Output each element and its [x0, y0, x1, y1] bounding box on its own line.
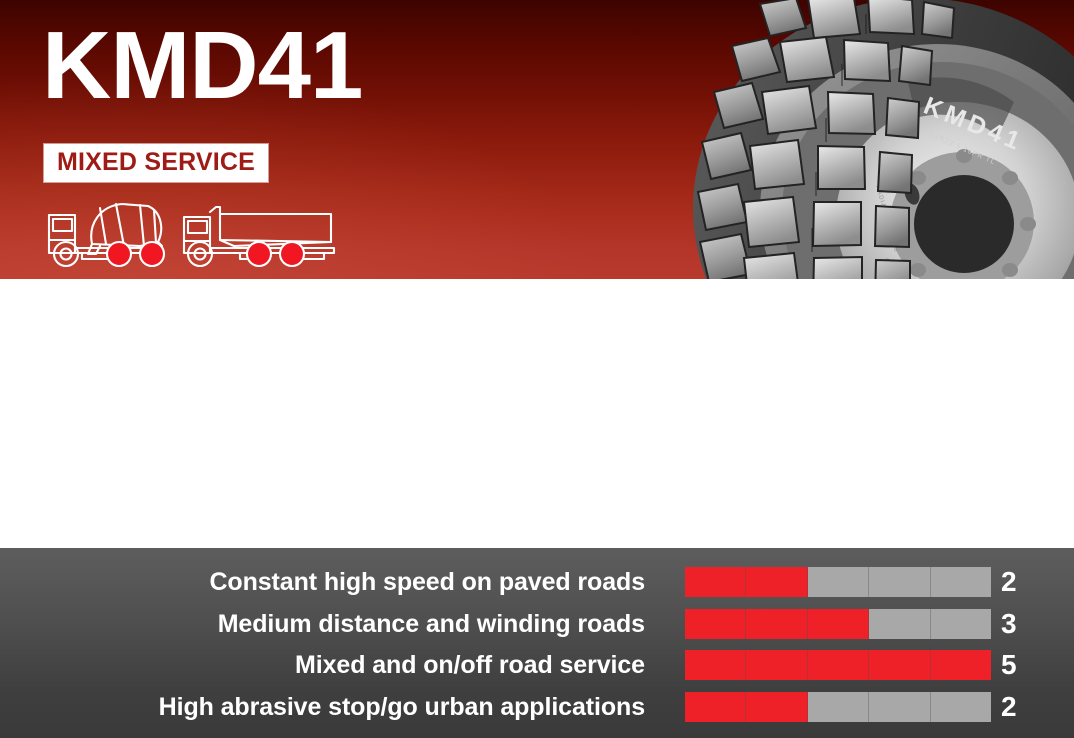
rating-segment [746, 650, 807, 680]
status-badge-label: MIXED SERVICE [57, 149, 255, 176]
rating-label: Medium distance and winding roads [0, 609, 645, 639]
rating-segment [685, 609, 746, 639]
rating-segment [869, 650, 930, 680]
rating-bar [685, 692, 991, 722]
rating-value: 2 [1001, 567, 1041, 597]
rating-segment [808, 692, 869, 722]
rating-segment [746, 609, 807, 639]
rating-segment [746, 692, 807, 722]
rating-segment [685, 567, 746, 597]
page-title: KMD41 [42, 18, 362, 114]
rating-segment [869, 567, 930, 597]
features-section: • Open shoulder for excellent traction f… [0, 279, 1074, 548]
rating-row: Mixed and on/off road service 5 [0, 648, 1074, 682]
rating-segment [869, 692, 930, 722]
rating-row: Medium distance and winding roads 3 [0, 607, 1074, 641]
rating-segment [869, 609, 930, 639]
truck-icons-svg [44, 196, 344, 274]
rating-row: High abrasive stop/go urban applications… [0, 690, 1074, 724]
tire-photo: KMD41 11R22.5 16PR TL RADIAL TUBELESS DO… [680, 0, 1074, 279]
rating-segment [931, 567, 991, 597]
rating-segment [685, 692, 746, 722]
rating-bar [685, 567, 991, 597]
rating-segment [808, 650, 869, 680]
rating-segment [685, 650, 746, 680]
rating-value: 3 [1001, 609, 1041, 639]
rating-value: 2 [1001, 692, 1041, 722]
application-icons [44, 196, 344, 274]
status-badge: MIXED SERVICE [44, 144, 268, 182]
rating-segment [931, 692, 991, 722]
rating-label: High abrasive stop/go urban applications [0, 692, 645, 722]
rating-segment [931, 650, 991, 680]
rating-segment [931, 609, 991, 639]
rating-segment [808, 567, 869, 597]
rating-segment [808, 609, 869, 639]
rating-label: Constant high speed on paved roads [0, 567, 645, 597]
rating-label: Mixed and on/off road service [0, 650, 645, 680]
rating-row: Constant high speed on paved roads 2 [0, 565, 1074, 599]
header-banner: KMD41 MIXED SERVICE [0, 0, 1074, 279]
product-spec-sheet: KMD41 MIXED SERVICE [0, 0, 1074, 738]
rating-bar [685, 650, 991, 680]
tire-photo-svg: KMD41 11R22.5 16PR TL RADIAL TUBELESS DO… [680, 0, 1074, 279]
rating-segment [746, 567, 807, 597]
rating-value: 5 [1001, 650, 1041, 680]
rating-bar [685, 609, 991, 639]
